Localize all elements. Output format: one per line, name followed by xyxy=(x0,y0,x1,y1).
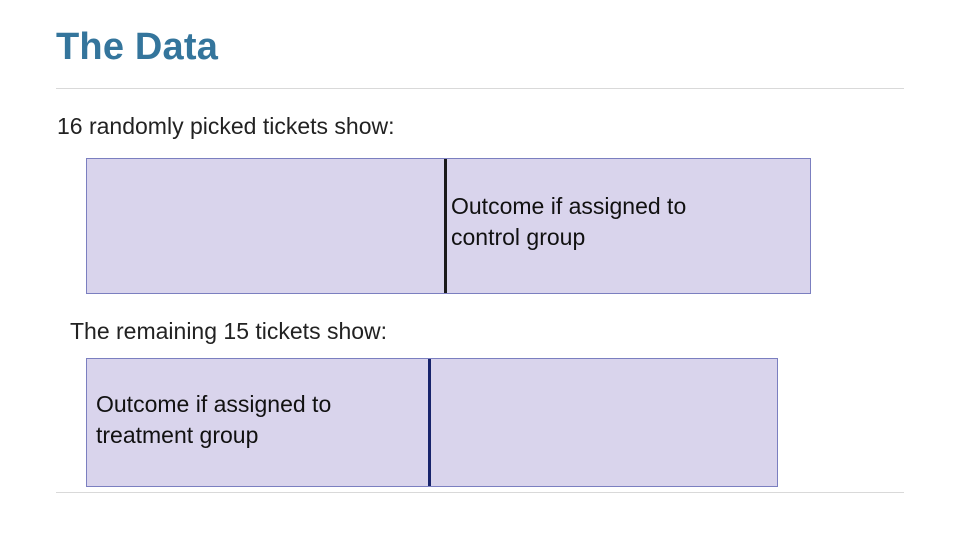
ticket-card-control: Outcome if assigned to control group xyxy=(86,158,811,294)
caption-remaining-tickets: The remaining 15 tickets show: xyxy=(70,318,387,346)
ticket-card-treatment: Outcome if assigned to treatment group xyxy=(86,358,778,487)
ticket-label-treatment-line1: Outcome if assigned to xyxy=(96,389,436,420)
title-divider-rule xyxy=(56,88,904,89)
ticket-label-treatment: Outcome if assigned to treatment group xyxy=(96,389,436,451)
ticket-label-control-line2: control group xyxy=(451,222,801,253)
ticket-label-treatment-line2: treatment group xyxy=(96,420,436,451)
caption-sampled-tickets: 16 randomly picked tickets show: xyxy=(57,113,395,141)
bottom-divider-rule xyxy=(56,492,904,493)
ticket-label-control: Outcome if assigned to control group xyxy=(451,191,801,253)
page-title: The Data xyxy=(56,27,218,69)
slide: The Data 16 randomly picked tickets show… xyxy=(0,0,960,540)
ticket-divider-control xyxy=(444,159,447,293)
ticket-label-control-line1: Outcome if assigned to xyxy=(451,191,801,222)
